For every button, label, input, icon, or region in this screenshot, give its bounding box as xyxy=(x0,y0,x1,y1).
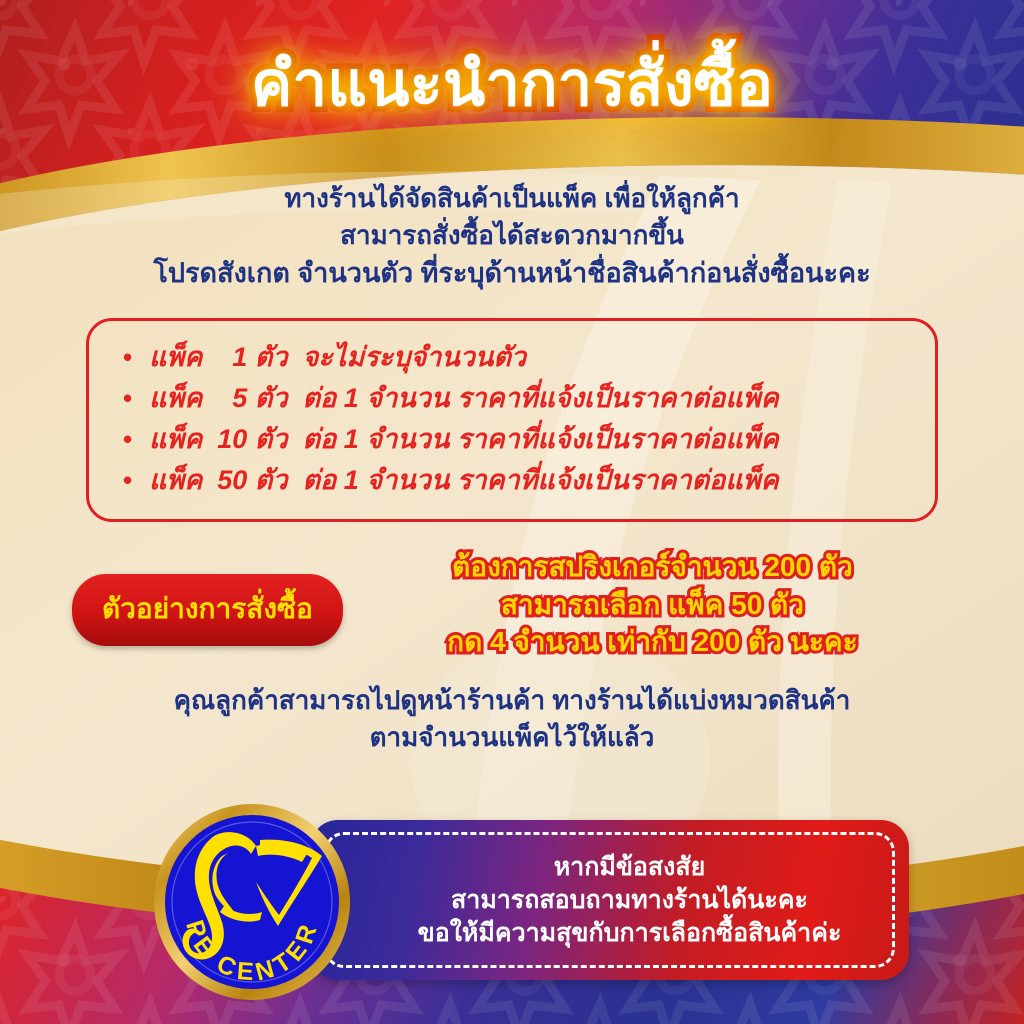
footer-line-1: หากมีข้อสงสัย xyxy=(554,851,706,884)
bullet-icon: • xyxy=(123,461,149,501)
intro-paragraph: ทางร้านได้จัดสินค้าเป็นแพ็ค เพื่อให้ลูกค… xyxy=(153,180,870,292)
order-example-text: ต้องการสปริงเกอร์จำนวน 200 ตัว สามารถเลื… xyxy=(353,548,952,660)
title-banner: คำแนะนำการสั่งซื้อ xyxy=(0,52,1024,119)
example-line-2: สามารถเลือก แพ็ค 50 ตัว xyxy=(353,586,952,623)
footer-line-2: สามารถสอบถามทางร้านได้นะคะ xyxy=(451,884,808,917)
bullet-icon: • xyxy=(123,379,149,419)
footer-contact-box: หากมีข้อสงสัย สามารถสอบถามทางร้านได้นะคะ… xyxy=(310,820,909,980)
pack-option-label: แพ็ค 50 ตัว xyxy=(149,460,295,501)
bullet-icon: • xyxy=(123,338,149,378)
example-line-3: กด 4 จำนวน เท่ากับ 200 ตัว นะคะ xyxy=(353,623,952,660)
page-title: คำแนะนำการสั่งซื้อ xyxy=(251,52,773,119)
content-area: ทางร้านได้จัดสินค้าเป็นแพ็ค เพื่อให้ลูกค… xyxy=(0,148,1024,876)
order-example-pill: ตัวอย่างการสั่งซื้อ xyxy=(72,574,343,646)
intro-line-2: สามารถสั่งซื้อได้สะดวกมากขึ้น xyxy=(153,217,870,254)
outro-line-2: ตามจำนวนแพ็คไว้ให้แล้ว xyxy=(174,719,851,756)
pack-option-label: แพ็ค 1 ตัว xyxy=(149,337,295,378)
intro-line-1: ทางร้านได้จัดสินค้าเป็นแพ็ค เพื่อให้ลูกค… xyxy=(153,180,870,217)
example-line-1: ต้องการสปริงเกอร์จำนวน 200 ตัว xyxy=(353,548,952,585)
pack-options-box: • แพ็ค 1 ตัว จะไม่ระบุจำนวนตัว • แพ็ค 5 … xyxy=(86,318,938,522)
pack-option-label: แพ็ค 5 ตัว xyxy=(149,378,295,419)
bullet-icon: • xyxy=(123,420,149,460)
pack-option-note: ต่อ 1 จำนวน ราคาที่แจ้งเป็นราคาต่อแพ็ค xyxy=(295,378,779,419)
pack-option-note: จะไม่ระบุจำนวนตัว xyxy=(295,337,526,378)
pack-option-row: • แพ็ค 1 ตัว จะไม่ระบุจำนวนตัว xyxy=(89,337,935,378)
intro-line-3: โปรดสังเกต จำนวนตัว ที่ระบุด้านหน้าชื่อส… xyxy=(153,254,870,292)
outro-paragraph: คุณลูกค้าสามารถไปดูหน้าร้านค้า ทางร้านได… xyxy=(174,682,851,756)
brand-logo[interactable]: PE CENTER xyxy=(152,802,352,1002)
pack-option-row: • แพ็ค 10 ตัว ต่อ 1 จำนวน ราคาที่แจ้งเป็… xyxy=(89,419,935,460)
poster-canvas: คำแนะนำการสั่งซื้อ ทางร้านได้จัดสินค้าเป… xyxy=(0,0,1024,1024)
outro-line-1: คุณลูกค้าสามารถไปดูหน้าร้านค้า ทางร้านได… xyxy=(174,682,851,719)
pack-option-label: แพ็ค 10 ตัว xyxy=(149,419,295,460)
pack-option-note: ต่อ 1 จำนวน ราคาที่แจ้งเป็นราคาต่อแพ็ค xyxy=(295,419,779,460)
footer-text: หากมีข้อสงสัย สามารถสอบถามทางร้านได้นะคะ… xyxy=(310,820,909,980)
pack-option-note: ต่อ 1 จำนวน ราคาที่แจ้งเป็นราคาต่อแพ็ค xyxy=(295,460,779,501)
order-example-section: ตัวอย่างการสั่งซื้อ ต้องการสปริงเกอร์จำน… xyxy=(72,548,952,660)
pack-option-row: • แพ็ค 50 ตัว ต่อ 1 จำนวน ราคาที่แจ้งเป็… xyxy=(89,460,935,501)
pack-option-row: • แพ็ค 5 ตัว ต่อ 1 จำนวน ราคาที่แจ้งเป็น… xyxy=(89,378,935,419)
footer-line-3: ขอให้มีความสุขกับการเลือกซื้อสินค้าค่ะ xyxy=(418,917,842,950)
